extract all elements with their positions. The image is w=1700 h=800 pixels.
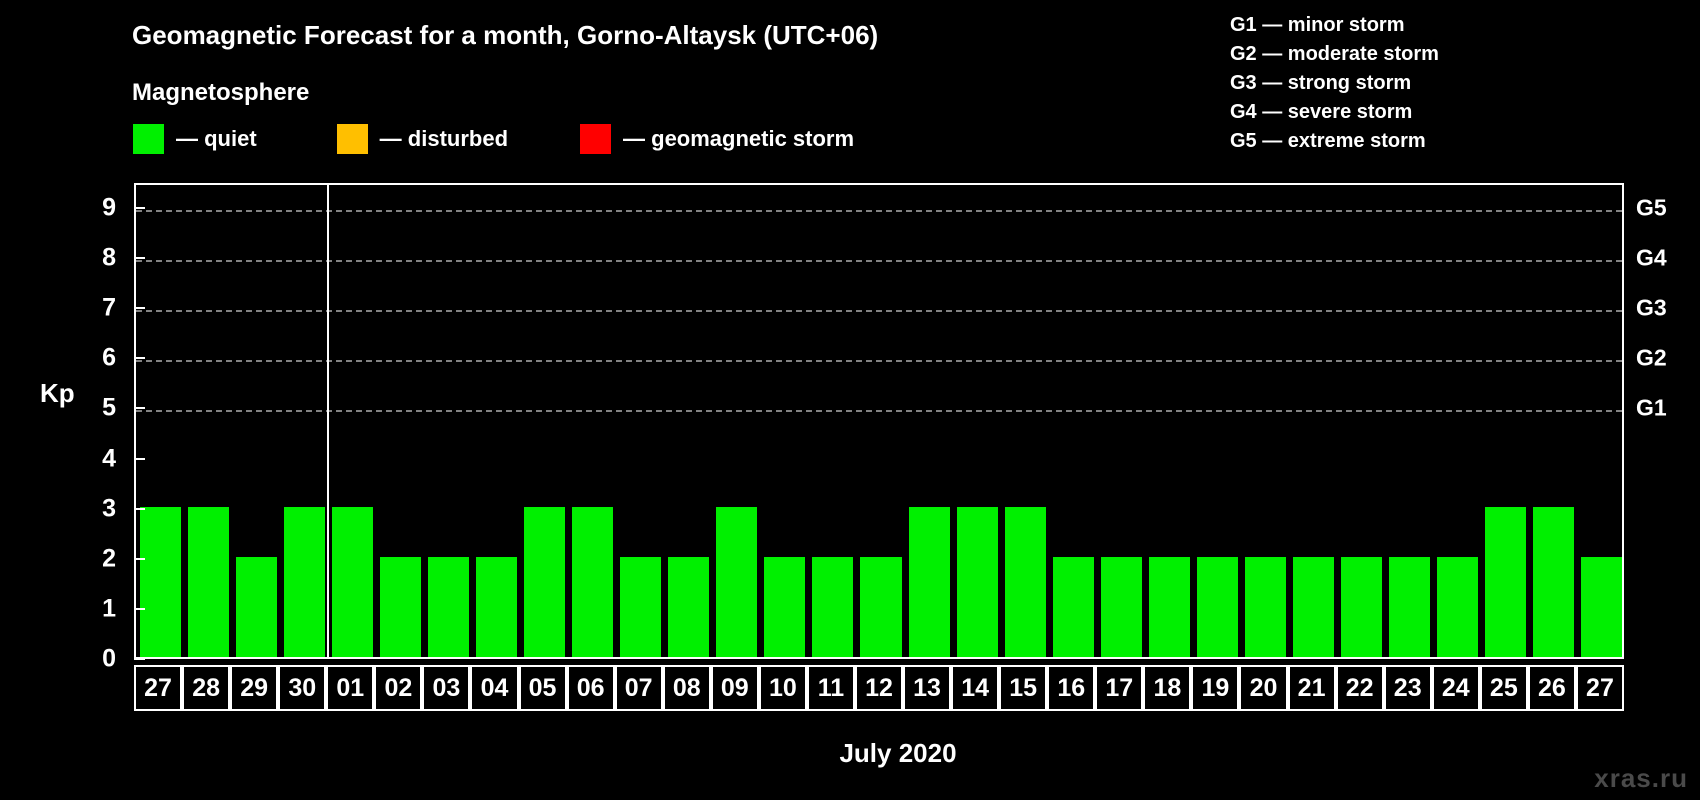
legend-label-quiet: — quiet — [176, 126, 257, 152]
bar-day-18[interactable] — [1149, 557, 1190, 657]
x-axis-day-label-13: 10 — [759, 665, 807, 711]
bar-day-14[interactable] — [957, 507, 998, 657]
bar-day-28[interactable] — [188, 507, 229, 657]
g-axis-label-g3: G3 — [1636, 295, 1667, 322]
y-tick-mark-9 — [134, 207, 145, 209]
bar-day-24[interactable] — [1437, 557, 1478, 657]
bar-day-09[interactable] — [716, 507, 757, 657]
y-tick-mark-5 — [134, 407, 145, 409]
g-axis-label-g4: G4 — [1636, 245, 1667, 272]
bar-day-12[interactable] — [860, 557, 901, 657]
x-axis-day-label-29: 26 — [1528, 665, 1576, 711]
x-axis-day-label-28: 25 — [1480, 665, 1528, 711]
x-axis-day-label-25: 22 — [1336, 665, 1384, 711]
x-axis-day-label-24: 21 — [1288, 665, 1336, 711]
x-axis-day-label-0: 27 — [134, 665, 182, 711]
bar-day-23[interactable] — [1389, 557, 1430, 657]
plot-area — [134, 183, 1624, 659]
x-axis-day-label-5: 02 — [374, 665, 422, 711]
x-axis-day-label-3: 30 — [278, 665, 326, 711]
g-axis-label-g2: G2 — [1636, 345, 1667, 372]
bar-day-20[interactable] — [1245, 557, 1286, 657]
bar-day-27[interactable] — [1581, 557, 1622, 657]
y-tick-mark-4 — [134, 458, 145, 460]
bar-day-05[interactable] — [524, 507, 565, 657]
g-axis-label-g1: G1 — [1636, 395, 1667, 422]
bar-day-19[interactable] — [1197, 557, 1238, 657]
y-tick-mark-3 — [134, 508, 145, 510]
y-tick-mark-8 — [134, 257, 145, 259]
y-tick-label-1: 1 — [102, 594, 116, 623]
page-title: Geomagnetic Forecast for a month, Gorno-… — [132, 20, 878, 51]
x-axis-day-label-16: 13 — [903, 665, 951, 711]
g-scale-row-g5: G5 — extreme storm — [1230, 128, 1439, 154]
bar-day-06[interactable] — [572, 507, 613, 657]
y-tick-label-7: 7 — [102, 294, 116, 323]
legend-swatch-disturbed — [337, 124, 368, 154]
bars-layer — [136, 185, 1622, 657]
x-axis-day-label-30: 27 — [1576, 665, 1624, 711]
x-axis-day-label-19: 16 — [1047, 665, 1095, 711]
x-axis-title: July 2020 — [839, 738, 956, 769]
x-axis-day-label-14: 11 — [807, 665, 855, 711]
y-tick-mark-1 — [134, 608, 145, 610]
legend-entry-quiet: — quiet — [133, 124, 257, 154]
bar-day-01[interactable] — [332, 507, 373, 657]
y-tick-label-0: 0 — [102, 645, 116, 674]
y-tick-mark-2 — [134, 558, 145, 560]
bar-day-30[interactable] — [284, 507, 325, 657]
x-axis-day-label-4: 01 — [326, 665, 374, 711]
x-axis-day-label-26: 23 — [1384, 665, 1432, 711]
bar-day-16[interactable] — [1053, 557, 1094, 657]
chart-canvas: Geomagnetic Forecast for a month, Gorno-… — [0, 0, 1700, 800]
legend-label-disturbed: — disturbed — [380, 126, 508, 152]
legend-label-storm: — geomagnetic storm — [623, 126, 854, 152]
x-axis-day-label-15: 12 — [855, 665, 903, 711]
g-scale-row-g1: G1 — minor storm — [1230, 12, 1439, 38]
x-axis-day-label-6: 03 — [422, 665, 470, 711]
bar-day-26[interactable] — [1533, 507, 1574, 657]
y-axis-labels: 0123456789 — [78, 183, 122, 659]
x-axis-day-label-11: 08 — [663, 665, 711, 711]
g-scale-row-g4: G4 — severe storm — [1230, 99, 1439, 125]
y-tick-label-5: 5 — [102, 394, 116, 423]
bar-day-13[interactable] — [909, 507, 950, 657]
y-tick-label-6: 6 — [102, 344, 116, 373]
bar-day-21[interactable] — [1293, 557, 1334, 657]
bar-day-10[interactable] — [764, 557, 805, 657]
x-axis-day-label-12: 09 — [711, 665, 759, 711]
bar-day-15[interactable] — [1005, 507, 1046, 657]
bar-day-25[interactable] — [1485, 507, 1526, 657]
bar-day-08[interactable] — [668, 557, 709, 657]
legend-swatch-storm — [580, 124, 611, 154]
bar-day-11[interactable] — [812, 557, 853, 657]
x-axis-day-label-21: 18 — [1143, 665, 1191, 711]
x-axis-day-label-7: 04 — [470, 665, 518, 711]
y-axis-title: Kp — [40, 378, 75, 409]
x-axis-day-label-22: 19 — [1191, 665, 1239, 711]
legend-swatch-quiet — [133, 124, 164, 154]
bar-day-07[interactable] — [620, 557, 661, 657]
y-tick-label-2: 2 — [102, 544, 116, 573]
color-legend: — quiet— disturbed— geomagnetic storm — [133, 124, 854, 154]
magnetosphere-label: Magnetosphere — [132, 79, 309, 107]
legend-entry-disturbed: — disturbed — [337, 124, 508, 154]
x-axis-day-label-10: 07 — [615, 665, 663, 711]
forecast-divider-line — [327, 185, 329, 657]
x-axis-day-label-9: 06 — [567, 665, 615, 711]
x-axis-day-label-2: 29 — [230, 665, 278, 711]
bar-day-04[interactable] — [476, 557, 517, 657]
x-axis-day-boxes: 2728293001020304050607080910111213141516… — [134, 665, 1624, 711]
bar-day-02[interactable] — [380, 557, 421, 657]
x-axis-day-label-17: 14 — [951, 665, 999, 711]
x-axis-day-label-20: 17 — [1095, 665, 1143, 711]
legend-entry-storm: — geomagnetic storm — [580, 124, 854, 154]
g-axis-labels: G1G2G3G4G5 — [1636, 183, 1696, 659]
y-tick-label-9: 9 — [102, 194, 116, 223]
watermark: xras.ru — [1594, 763, 1688, 794]
g-scale-legend: G1 — minor stormG2 — moderate stormG3 — … — [1230, 12, 1439, 154]
bar-day-29[interactable] — [236, 557, 277, 657]
g-axis-label-g5: G5 — [1636, 195, 1667, 222]
x-axis-day-label-1: 28 — [182, 665, 230, 711]
y-tick-mark-6 — [134, 357, 145, 359]
x-axis-day-label-18: 15 — [999, 665, 1047, 711]
x-axis-day-label-27: 24 — [1432, 665, 1480, 711]
g-scale-row-g2: G2 — moderate storm — [1230, 41, 1439, 67]
bar-day-27[interactable] — [140, 507, 181, 657]
bar-day-03[interactable] — [428, 557, 469, 657]
y-tick-label-4: 4 — [102, 444, 116, 473]
y-tick-label-8: 8 — [102, 244, 116, 273]
x-axis-day-label-23: 20 — [1239, 665, 1287, 711]
bar-day-22[interactable] — [1341, 557, 1382, 657]
y-tick-mark-7 — [134, 307, 145, 309]
y-tick-mark-0 — [134, 658, 145, 660]
g-scale-row-g3: G3 — strong storm — [1230, 70, 1439, 96]
y-tick-label-3: 3 — [102, 494, 116, 523]
x-axis-day-label-8: 05 — [519, 665, 567, 711]
bar-day-17[interactable] — [1101, 557, 1142, 657]
